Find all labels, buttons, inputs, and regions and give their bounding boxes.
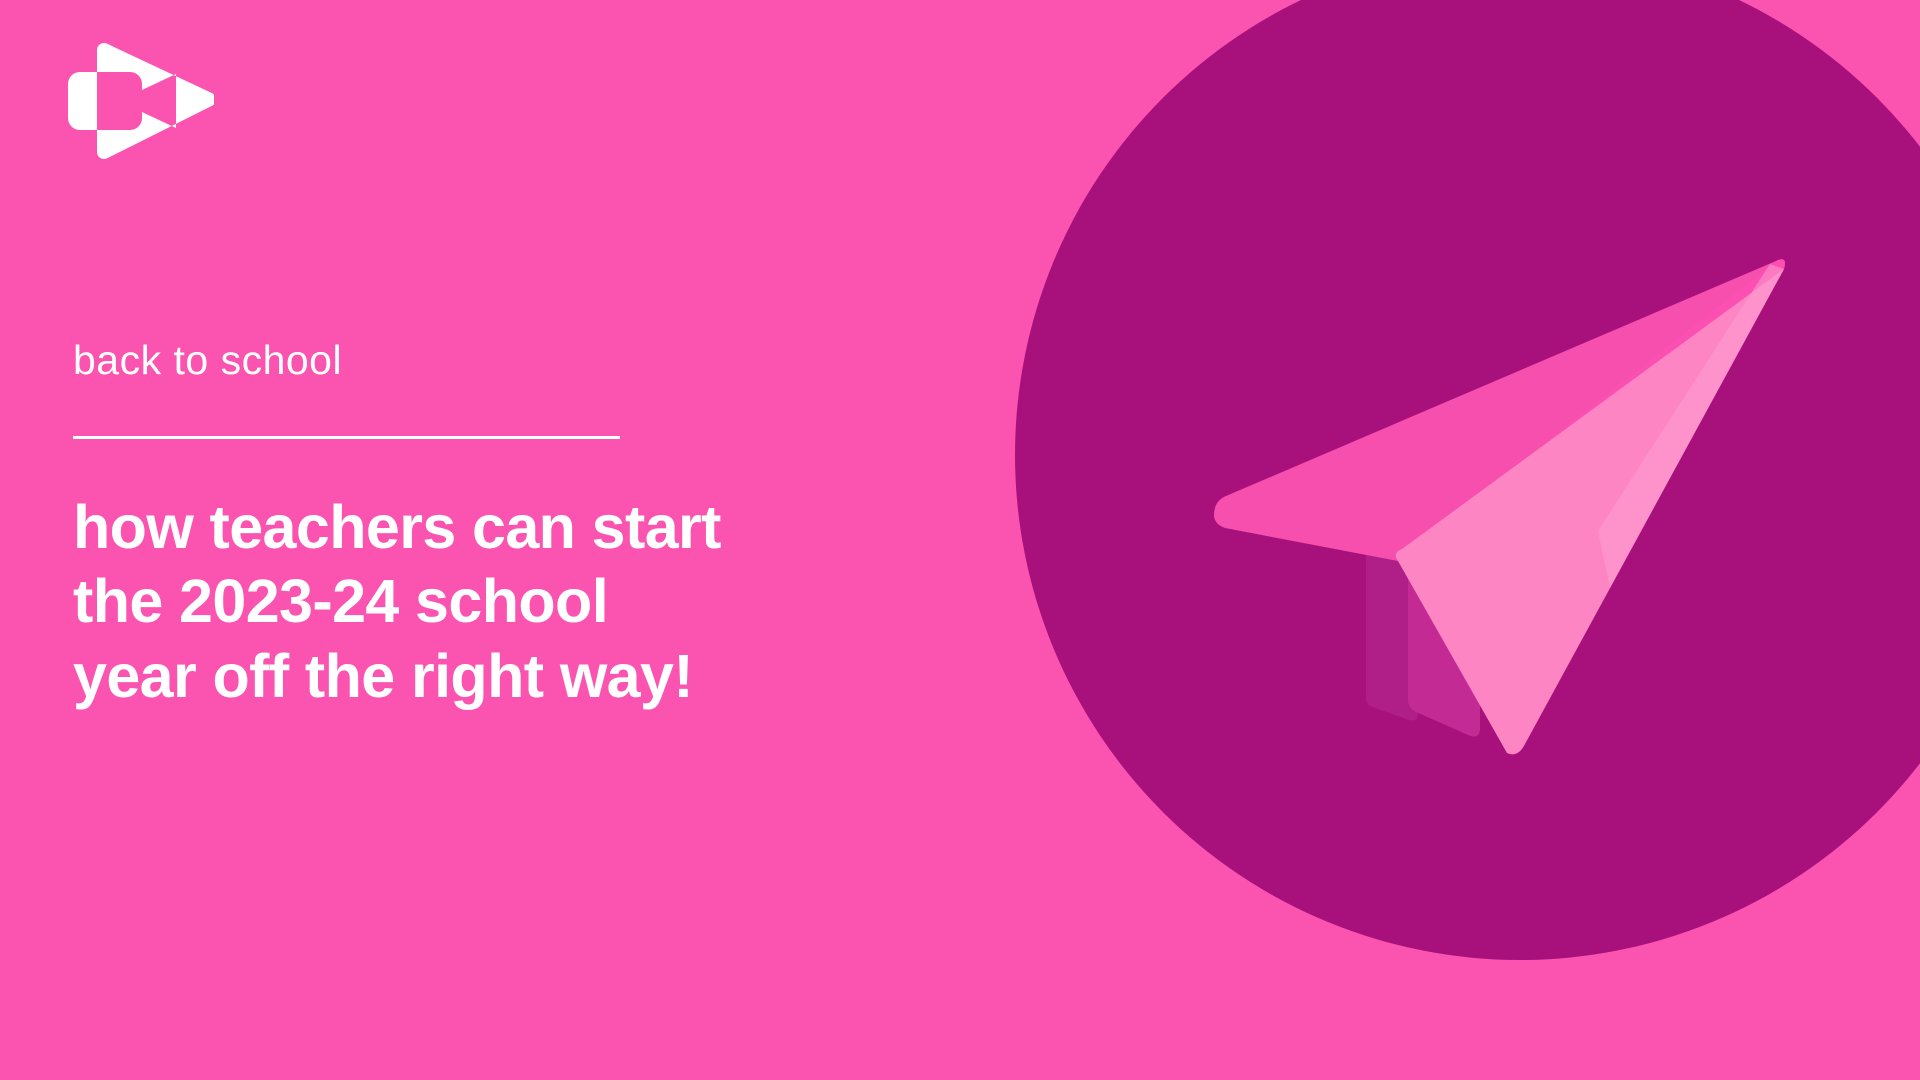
banner-canvas: back to school how teachers can start th…: [0, 0, 1920, 1080]
page-title: how teachers can start the 2023-24 schoo…: [73, 490, 833, 713]
video-play-logo[interactable]: [66, 42, 214, 160]
video-camera-icon: [66, 42, 214, 160]
paper-airplane-illustration: [1180, 228, 1800, 758]
divider-rule: [73, 436, 620, 439]
headline-line-3: year off the right way!: [73, 639, 833, 713]
headline-line-2: the 2023-24 school: [73, 564, 833, 638]
eyebrow-label: back to school: [73, 340, 833, 381]
text-block: back to school how teachers can start th…: [73, 340, 833, 713]
headline-line-1: how teachers can start: [73, 490, 833, 564]
